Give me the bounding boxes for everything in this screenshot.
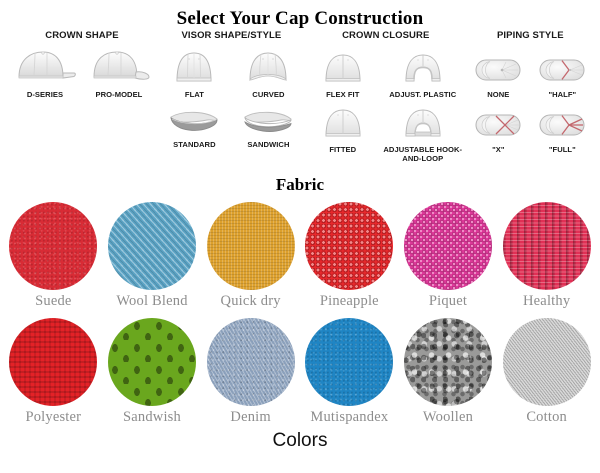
group-heading-piping-style: PIPING STYLE xyxy=(467,30,594,41)
group-crown-shape: CROWN SHAPE D-SERIES xyxy=(6,30,158,99)
fabric-label: Cotton xyxy=(497,409,596,426)
option-pro-model[interactable]: PRO-MODEL xyxy=(84,47,154,99)
group-piping-style: PIPING STYLE NON xyxy=(467,30,594,154)
fabric-swatch-cotton[interactable]: Cotton xyxy=(497,318,596,426)
fabric-swatch-grid-row-2: Polyester Sandwish Denim Mutispandex Woo… xyxy=(0,318,600,426)
option-label: "HALF" xyxy=(532,90,592,99)
cap-back-closed-icon xyxy=(308,47,378,87)
fabric-swatch-circle[interactable] xyxy=(9,202,97,290)
option-label: D-SERIES xyxy=(10,90,80,99)
option-row: FITTED ADJUSTABLE HOOK-AND-LOOP xyxy=(305,102,467,163)
option-row: FLAT CURVED xyxy=(158,47,305,99)
cap-construction-section: CROWN SHAPE D-SERIES xyxy=(0,30,600,175)
cap-configurator-page: { "page": { "main_title": "Select Your C… xyxy=(0,0,600,473)
cap-top-piping-none-icon xyxy=(468,47,528,87)
fabric-label: Mutispandex xyxy=(300,409,399,426)
option-label: FLAT xyxy=(159,90,229,99)
fabric-swatch-circle[interactable] xyxy=(503,318,591,406)
visor-sandwich-icon xyxy=(233,103,303,137)
cap-top-piping-full-icon xyxy=(532,102,592,142)
option-row: NONE "HALF" xyxy=(467,47,594,99)
option-fitted[interactable]: FITTED xyxy=(308,102,378,163)
fabric-swatch-denim[interactable]: Denim xyxy=(201,318,300,426)
option-label: CURVED xyxy=(233,90,303,99)
fabric-swatch-mutispandex[interactable]: Mutispandex xyxy=(300,318,399,426)
fabric-swatch-circle[interactable] xyxy=(404,202,492,290)
option-label: STANDARD xyxy=(159,140,229,149)
cap-top-piping-x-icon xyxy=(468,102,528,142)
option-label: PRO-MODEL xyxy=(84,90,154,99)
fabric-swatch-woollen[interactable]: Woollen xyxy=(399,318,498,426)
fabric-swatch-circle[interactable] xyxy=(9,318,97,406)
fabric-swatch-circle[interactable] xyxy=(305,318,393,406)
fabric-swatch-polyester[interactable]: Polyester xyxy=(4,318,103,426)
option-label: SANDWICH xyxy=(233,140,303,149)
fabric-swatch-healthy[interactable]: Healthy xyxy=(497,202,596,310)
cap-front-flat-icon xyxy=(159,47,229,87)
option-d-series[interactable]: D-SERIES xyxy=(10,47,80,99)
option-label: "X" xyxy=(468,145,528,154)
fabric-swatch-circle[interactable] xyxy=(503,202,591,290)
fabric-swatch-suede[interactable]: Suede xyxy=(4,202,103,310)
group-visor-shape-style: VISOR SHAPE/STYLE FLAT xyxy=(158,30,305,149)
option-piping-x[interactable]: "X" xyxy=(468,102,528,154)
fabric-label: Quick dry xyxy=(201,293,300,310)
option-label: ADJUSTABLE HOOK-AND-LOOP xyxy=(382,145,464,163)
group-heading-visor-shape-style: VISOR SHAPE/STYLE xyxy=(158,30,305,41)
colors-section-title: Colors xyxy=(0,430,600,452)
fabric-swatch-wool-blend[interactable]: Wool Blend xyxy=(103,202,202,310)
page-title: Select Your Cap Construction xyxy=(0,0,600,30)
fabric-label: Piquet xyxy=(399,293,498,310)
option-sandwich-visor[interactable]: SANDWICH xyxy=(233,103,303,149)
cap-top-piping-half-icon xyxy=(532,47,592,87)
option-row: STANDARD SANDWICH xyxy=(158,103,305,149)
fabric-swatch-pineapple[interactable]: Pineapple xyxy=(300,202,399,310)
cap-side-flat-brim-icon xyxy=(10,47,80,87)
fabric-swatch-circle[interactable] xyxy=(108,202,196,290)
fabric-label: Wool Blend xyxy=(103,293,202,310)
fabric-label: Denim xyxy=(201,409,300,426)
fabric-label: Woollen xyxy=(399,409,498,426)
cap-side-curved-brim-icon xyxy=(84,47,154,87)
option-label: FLEX FIT xyxy=(308,90,378,99)
fabric-swatch-circle[interactable] xyxy=(207,202,295,290)
group-heading-crown-closure: CROWN CLOSURE xyxy=(305,30,467,41)
fabric-swatch-circle[interactable] xyxy=(108,318,196,406)
option-piping-none[interactable]: NONE xyxy=(468,47,528,99)
option-row: D-SERIES PRO-MODEL xyxy=(6,47,158,99)
fabric-swatch-circle[interactable] xyxy=(404,318,492,406)
option-standard-visor[interactable]: STANDARD xyxy=(159,103,229,149)
option-flex-fit[interactable]: FLEX FIT xyxy=(308,47,378,99)
cap-front-curved-icon xyxy=(233,47,303,87)
option-curved[interactable]: CURVED xyxy=(233,47,303,99)
option-row: FLEX FIT ADJUST. PLASTIC xyxy=(305,47,467,99)
visor-standard-icon xyxy=(159,103,229,137)
cap-back-velcro-icon xyxy=(382,102,464,142)
fabric-label: Suede xyxy=(4,293,103,310)
option-label: FITTED xyxy=(308,145,378,154)
fabric-label: Healthy xyxy=(497,293,596,310)
option-piping-full[interactable]: "FULL" xyxy=(532,102,592,154)
group-heading-crown-shape: CROWN SHAPE xyxy=(6,30,158,41)
option-adjust-plastic[interactable]: ADJUST. PLASTIC xyxy=(382,47,464,99)
fabric-swatch-sandwish[interactable]: Sandwish xyxy=(103,318,202,426)
option-adjustable-hook-and-loop[interactable]: ADJUSTABLE HOOK-AND-LOOP xyxy=(382,102,464,163)
fabric-swatch-circle[interactable] xyxy=(207,318,295,406)
fabric-swatch-piquet[interactable]: Piquet xyxy=(399,202,498,310)
option-flat[interactable]: FLAT xyxy=(159,47,229,99)
fabric-section-title: Fabric xyxy=(0,175,600,195)
option-label: NONE xyxy=(468,90,528,99)
fabric-label: Polyester xyxy=(4,409,103,426)
option-piping-half[interactable]: "HALF" xyxy=(532,47,592,99)
group-crown-closure: CROWN CLOSURE FLEX FIT xyxy=(305,30,467,163)
fabric-label: Sandwish xyxy=(103,409,202,426)
fabric-label: Pineapple xyxy=(300,293,399,310)
fabric-swatch-circle[interactable] xyxy=(305,202,393,290)
fabric-swatch-grid-row-1: Suede Wool Blend Quick dry Pineapple Piq… xyxy=(0,202,600,310)
option-row: "X" "FULL" xyxy=(467,102,594,154)
option-label: "FULL" xyxy=(532,145,592,154)
cap-back-snapback-icon xyxy=(382,47,464,87)
option-label: ADJUST. PLASTIC xyxy=(382,90,464,99)
cap-back-closed-icon xyxy=(308,102,378,142)
fabric-swatch-quick-dry[interactable]: Quick dry xyxy=(201,202,300,310)
